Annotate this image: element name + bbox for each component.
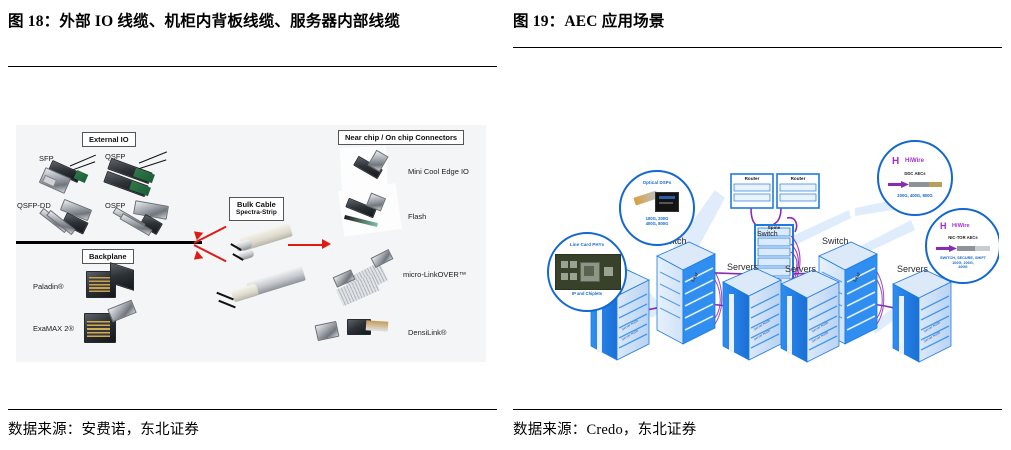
callout-line-card-phys[interactable]: Line Card PHYs IP and Chiplets bbox=[547, 232, 627, 312]
section-divider-bar bbox=[16, 241, 202, 244]
line-card-board-image bbox=[555, 254, 621, 290]
report-figure-page: 图 18：外部 IO 线缆、机柜内背板线缆、服务器内部线缆 External I… bbox=[0, 0, 1011, 450]
callout-nic-tor-aecs[interactable]: H HiWire NIC-TOR AECs SWITCH, SECURE, SH… bbox=[925, 208, 999, 284]
left-figure-title: 图 18：外部 IO 线缆、机柜内背板线缆、服务器内部线缆 bbox=[8, 10, 497, 34]
callout-nic-tor-aecs-speeds: SWITCH, SECURE, SHIFT 100G, 200G, 400G bbox=[927, 256, 999, 270]
label-micro-linkover: micro-LinkOVER™ bbox=[403, 270, 466, 279]
left-figure-panel: 图 18：外部 IO 线缆、机柜内背板线缆、服务器内部线缆 External I… bbox=[8, 0, 497, 450]
callout-ddc-aecs-speeds: 200G, 400G, 800G bbox=[879, 193, 951, 198]
tag-backplane: Backplane bbox=[82, 249, 134, 264]
densilink-ribbon bbox=[366, 320, 389, 332]
server-rack-label-2: Servers bbox=[727, 262, 758, 272]
right-source-rule bbox=[513, 409, 1002, 410]
server-rack-label-4: Servers bbox=[897, 264, 928, 274]
router-label-a: Router bbox=[738, 176, 766, 181]
callout-ddc-aecs-sub: DDC AECs bbox=[879, 171, 951, 176]
spine-switch-label: Switch bbox=[757, 231, 778, 238]
right-source-text: 数据来源：Credo，东北证券 bbox=[513, 418, 1002, 439]
router-label-b: Router bbox=[784, 176, 812, 181]
right-title-rule bbox=[513, 47, 1002, 48]
ddc-aec-cable-image bbox=[888, 181, 942, 188]
tag-near-chip: Near chip / On chip Connectors bbox=[338, 130, 464, 145]
tag-external-io: External IO bbox=[82, 132, 136, 147]
server-rack-4 bbox=[893, 270, 951, 362]
qsfp-wire-a bbox=[139, 151, 167, 164]
callout-optical-dsps[interactable]: Optical DSPs 100G, 200G 400G, 800G bbox=[619, 170, 695, 246]
arrowhead-to-backplane bbox=[191, 251, 204, 264]
callout-nic-tor-aecs-sub: NIC-TOR AECs bbox=[927, 235, 999, 240]
left-source-rule bbox=[8, 409, 497, 410]
examax-latch bbox=[107, 300, 136, 323]
paladin-contacts bbox=[89, 277, 110, 292]
leaf-switch-label-2: Switch bbox=[822, 236, 849, 246]
arrowhead-to-near-chip bbox=[322, 239, 331, 249]
bulk-cable-core-2 bbox=[231, 283, 259, 302]
label-densilink: DensiLink® bbox=[408, 328, 446, 337]
label-flash: Flash bbox=[408, 212, 426, 221]
server-rack-label-3: Servers bbox=[785, 264, 816, 274]
hiwire-logo-a: H HiWire bbox=[892, 156, 938, 168]
server-rack-3 bbox=[781, 270, 839, 362]
left-title-rule bbox=[8, 66, 497, 67]
server-rack-2 bbox=[723, 268, 781, 360]
spine-label: Spine bbox=[759, 225, 789, 230]
callout-optical-dsps-title: Optical DSPs bbox=[621, 180, 693, 185]
label-paladin: Paladin® bbox=[33, 282, 64, 291]
callout-line-card-phys-title: Line Card PHYs bbox=[549, 242, 625, 247]
examax-contacts bbox=[87, 321, 110, 337]
left-figure-image: External IO SFP QSFP QSFP-DD OSFP bbox=[16, 125, 486, 362]
callout-line-card-phys-sub: IP and Chiplets bbox=[549, 291, 625, 296]
arrow-to-near-chip bbox=[288, 244, 324, 246]
right-figure-title: 图 19：AEC 应用场景 bbox=[513, 10, 1002, 34]
callout-ddc-aecs[interactable]: H HiWire DDC AECs 200G, 400G, 800G bbox=[877, 140, 953, 216]
micro-linkover-head-a bbox=[371, 249, 394, 268]
right-figure-image: Router Router Spine Switch Switch Leaf S… bbox=[519, 112, 999, 380]
optical-dsp-chip bbox=[655, 192, 679, 212]
right-figure-panel: 图 19：AEC 应用场景 bbox=[513, 0, 1002, 450]
left-source-text: 数据来源：安费诺，东北证券 bbox=[8, 418, 497, 439]
tag-bulk-cable: Bulk Cable Spectra-Strip bbox=[229, 197, 284, 221]
callout-optical-dsps-speeds: 100G, 200G 400G, 800G bbox=[621, 216, 693, 227]
label-mini-cool-edge-io: Mini Cool Edge IO bbox=[408, 167, 469, 176]
nic-tor-aec-cable-image bbox=[936, 245, 990, 252]
leaf-switch-1 bbox=[657, 242, 722, 344]
hiwire-logo-b: H HiWire bbox=[940, 221, 986, 233]
densilink-plug bbox=[315, 321, 340, 341]
label-examax2: ExaMAX 2® bbox=[33, 324, 74, 333]
